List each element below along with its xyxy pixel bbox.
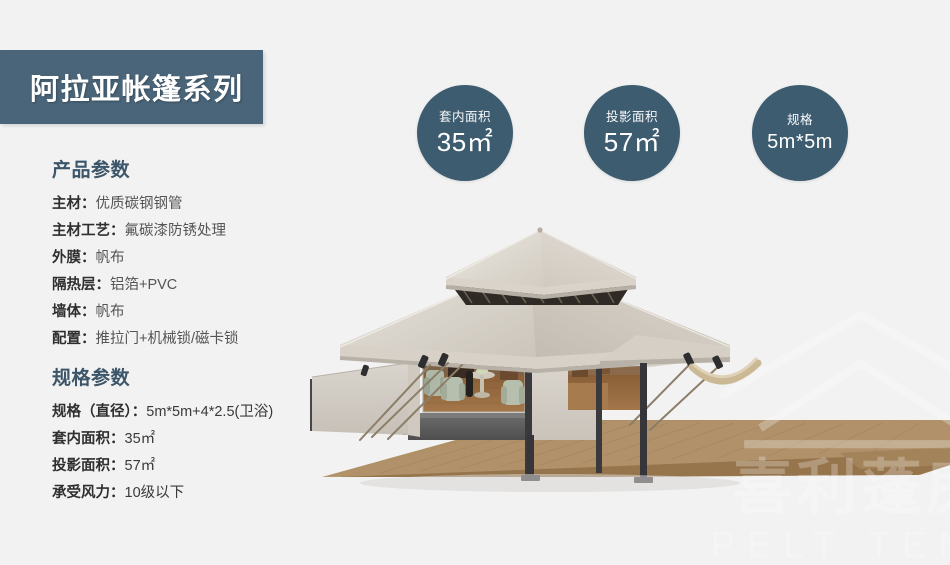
badge-dimensions: 规格 5m*5m (752, 85, 848, 181)
param-value: 帆布 (96, 250, 125, 266)
svg-text:PELT TENT: PELT TENT (711, 524, 950, 565)
list-item: 主材工艺：氟碳漆防锈处理 (52, 218, 239, 245)
page-title: 阿拉亚帐篷系列 (30, 66, 244, 108)
list-item: 套内面积：35㎡ (52, 426, 273, 453)
title-banner: 阿拉亚帐篷系列 (0, 50, 263, 124)
badge-value: 35㎡ (437, 129, 493, 155)
param-value: 推拉门+机械锁/磁卡锁 (96, 331, 239, 347)
badge-label: 规格 (787, 114, 813, 127)
badge-label: 投影面积 (606, 111, 658, 124)
spec-value: 10级以下 (125, 485, 185, 501)
list-item: 外膜：帆布 (52, 245, 239, 272)
param-label: 外膜： (52, 250, 96, 266)
param-label: 墙体： (52, 304, 96, 320)
plinth (408, 413, 528, 440)
product-parameters-heading: 产品参数 (52, 155, 239, 182)
armchair-left-2 (441, 377, 465, 401)
spec-label: 投影面积： (52, 458, 125, 474)
param-label: 隔热层： (52, 277, 110, 293)
spec-parameters-list: 规格（直径）：5m*5m+4*2.5(卫浴) 套内面积：35㎡ 投影面积：57㎡… (52, 399, 273, 507)
spec-label: 套内面积： (52, 431, 125, 447)
spec-value: 5m*5m+4*2.5(卫浴) (146, 404, 273, 420)
spec-value: 57㎡ (125, 458, 156, 474)
param-label: 配置： (52, 331, 96, 347)
badge-value: 57㎡ (604, 129, 660, 155)
slide-canvas: 阿拉亚帐篷系列 产品参数 主材：优质碳钢钢管 主材工艺：氟碳漆防锈处理 外膜：帆… (0, 0, 950, 534)
spec-label: 承受风力： (52, 485, 125, 501)
list-item: 配置：推拉门+机械锁/磁卡锁 (52, 326, 239, 353)
spec-label: 规格（直径）： (52, 404, 146, 420)
list-item: 承受风力：10级以下 (52, 480, 273, 507)
badge-value: 5m*5m (767, 132, 833, 152)
param-value: 帆布 (96, 304, 125, 320)
list-item: 隔热层：铝箔+PVC (52, 272, 239, 299)
product-parameters-section: 产品参数 主材：优质碳钢钢管 主材工艺：氟碳漆防锈处理 外膜：帆布 隔热层：铝箔… (52, 155, 239, 353)
param-value: 氟碳漆防锈处理 (125, 223, 227, 239)
badge-label: 套内面积 (439, 111, 491, 124)
upper-roof (446, 227, 636, 299)
armchair-right (501, 380, 525, 405)
badge-interior-area: 套内面积 35㎡ (417, 85, 513, 181)
product-parameters-list: 主材：优质碳钢钢管 主材工艺：氟碳漆防锈处理 外膜：帆布 隔热层：铝箔+PVC … (52, 191, 239, 353)
tent-render-svg (300, 225, 950, 515)
spec-value: 35㎡ (125, 431, 156, 447)
list-item: 墙体：帆布 (52, 299, 239, 326)
ground-shadow (360, 474, 740, 492)
tent-illustration: 喜利蓬房 PELT TENT (300, 225, 950, 515)
spec-parameters-heading: 规格参数 (52, 363, 273, 390)
param-value: 铝箔+PVC (110, 277, 177, 293)
spec-parameters-section: 规格参数 规格（直径）：5m*5m+4*2.5(卫浴) 套内面积：35㎡ 投影面… (52, 363, 273, 507)
list-item: 规格（直径）：5m*5m+4*2.5(卫浴) (52, 399, 273, 426)
param-value: 优质碳钢钢管 (96, 196, 183, 212)
param-label: 主材： (52, 196, 96, 212)
list-item: 主材：优质碳钢钢管 (52, 191, 239, 218)
list-item: 投影面积：57㎡ (52, 453, 273, 480)
param-label: 主材工艺： (52, 223, 125, 239)
badge-projected-area: 投影面积 57㎡ (584, 85, 680, 181)
